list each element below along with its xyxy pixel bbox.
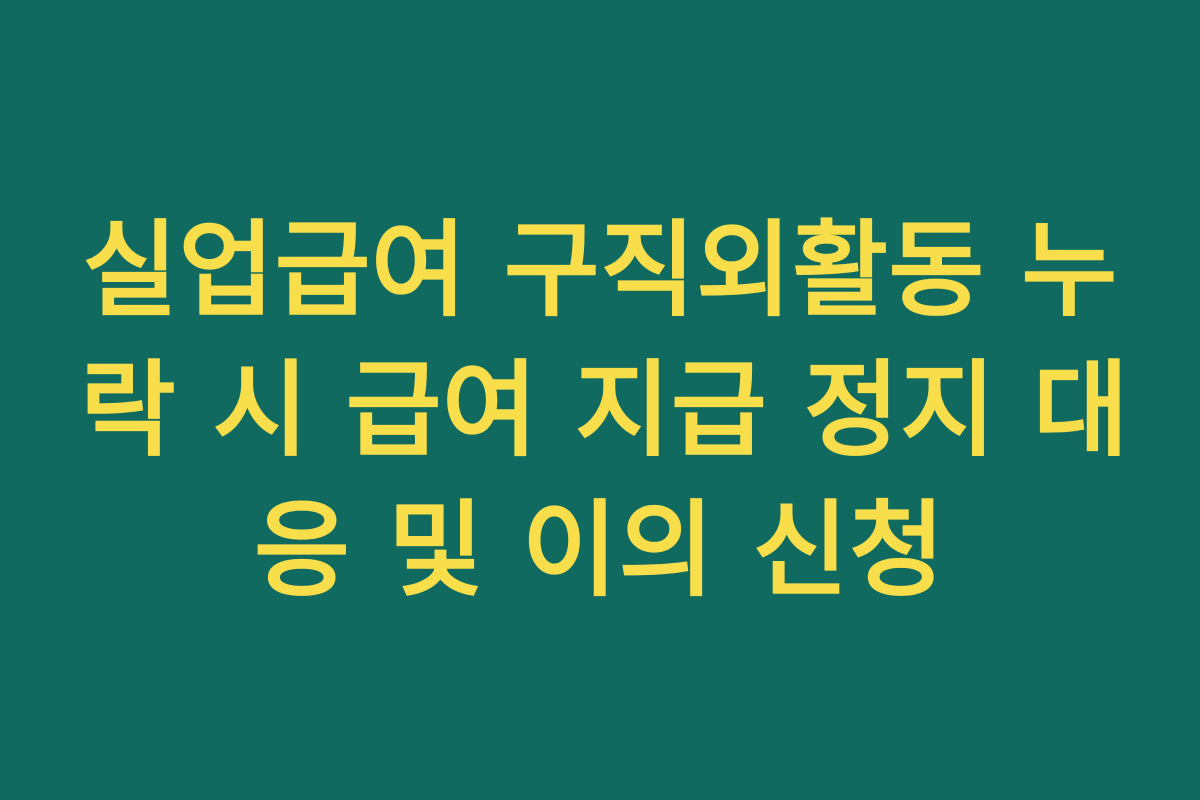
title-line-3: 응 및 이의 신청	[80, 480, 1120, 620]
title-line-1: 실업급여 구직외활동 누	[80, 200, 1120, 340]
title-banner: 실업급여 구직외활동 누 락 시 급여 지급 정지 대 응 및 이의 신청	[0, 0, 1200, 800]
banner-title: 실업급여 구직외활동 누 락 시 급여 지급 정지 대 응 및 이의 신청	[80, 200, 1120, 620]
title-line-2: 락 시 급여 지급 정지 대	[80, 340, 1120, 480]
